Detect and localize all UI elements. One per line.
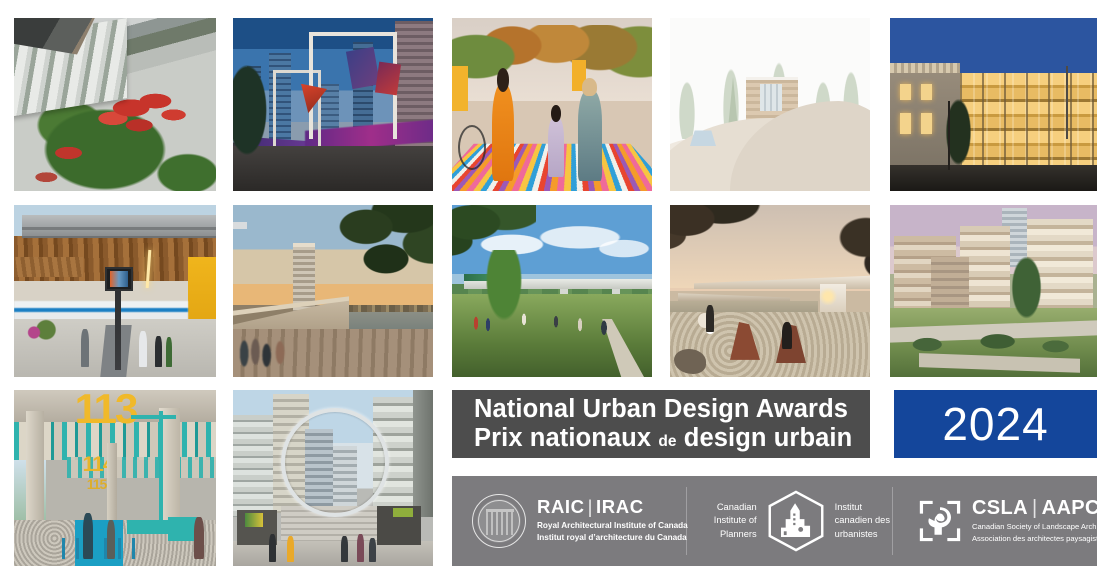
gallery-tile-meadow-park-viaduct [452,205,652,377]
lit-window [921,113,932,134]
awards-title-french-pre: Prix nationaux [474,424,651,452]
logo-csla: CSLA|AAPC Canadian Society of Landscape … [890,476,1112,566]
pedestrian-crowd [233,322,345,367]
cip-name-english: Canadian Institute of Planners [714,501,757,541]
photo-meadow-park [452,205,652,377]
gallery-tile-heritage-glass-addition-dusk [890,18,1097,191]
boulder-shape [674,349,706,373]
lit-window [921,84,932,101]
teal-pipe [159,411,164,527]
person-figure [139,331,147,367]
awards-title-french-post: design urbain [684,424,852,452]
tree-canopy [329,205,433,291]
gallery-tile-waterfront-promenade-sunset [233,205,433,377]
person-sun-hat [578,91,602,181]
photo-painted-street [452,18,652,191]
planting-bed [18,319,58,347]
park-visitors [452,308,652,346]
boat-shape [233,205,255,215]
bridge-deck [678,291,790,301]
gallery-tile-river-beach-bridge [670,205,870,377]
glazing-shape [760,84,782,112]
plaza-paving [233,541,433,566]
person-figure [194,517,204,559]
person-surfer [706,305,714,333]
photo-waterfront-promenade [233,205,433,377]
logo-cip: Canadian Institute of Planners Institut … [688,476,890,566]
awards-title-text: National Urban Design Awards Prix nation… [452,395,852,452]
street-plane [890,165,1097,191]
light-rail-train [14,301,188,320]
csla-acronym-en: CSLA [972,497,1028,519]
person-figure [287,536,294,562]
banner-shape [375,62,401,96]
yellow-pavilion [452,66,468,111]
concrete-column [26,411,44,524]
pier-number-113: 113 [75,390,137,428]
person-figure [83,513,93,559]
flagpole [1066,66,1068,139]
photo-hillside-section [670,18,870,191]
storefront-sign [393,508,413,517]
awards-title-bar: National Urban Design Awards Prix nation… [452,390,870,458]
person-figure [369,538,376,563]
csla-wordmark: CSLA|AAPC Canadian Society of Landscape … [972,498,1112,544]
planting-beds [890,329,1097,360]
cornice-detail [890,63,960,73]
raic-acronyms: RAIC|IRAC [537,498,688,517]
gallery-tile-underpass-teal-public-space: 113 114 115 [14,390,216,566]
raic-name-english: Royal Architectural Institute of Canada [537,521,688,532]
canopy-fascia [22,227,216,230]
gallery-tile-mid-rise-housing-courtyard [890,205,1097,377]
sponsor-logo-bar: RAIC|IRAC Royal Architectural Institute … [452,476,1097,566]
tree-canopy [670,205,762,263]
lamp-post [948,101,950,170]
tree-shape [1010,253,1043,322]
office-tower [233,415,277,517]
lit-window [900,84,911,101]
tree-shape [233,60,269,160]
logo-divider [892,487,893,555]
tree-canopy [452,25,652,105]
concrete-column [107,443,117,520]
guard-railing [62,538,143,559]
raic-name-french: Institut royal d’architecture du Canada [537,533,688,544]
csla-name-french: Association des architectes paysagistes … [972,534,1112,544]
boat-shape [233,222,247,229]
csla-leaf-square-icon [918,499,962,543]
raic-separator: | [585,496,596,517]
gallery-tile-aerial-courtyard-red-umbrellas [14,18,216,191]
cip-hexagon-city-icon [766,490,826,552]
csla-acronyms: CSLA|AAPC [972,498,1112,518]
tree-canopy [452,205,536,274]
poster-canvas: 113 114 115 [0,0,1112,584]
gallery-tile-painted-street-rendering [452,18,652,191]
awards-title-french-de: de [658,433,676,450]
person-figure [81,329,89,367]
logo-divider [686,487,687,555]
awards-title-english: National Urban Design Awards [474,395,852,424]
photo-underpass-space: 113 114 115 [14,390,216,566]
raic-wordmark: RAIC|IRAC Royal Architectural Institute … [537,498,688,543]
csla-name-english: Canadian Society of Landscape Architects [972,522,1112,532]
office-tower [413,390,433,517]
photo-aerial-courtyard [14,18,216,191]
person-figure [357,534,364,562]
lit-window [900,113,911,134]
person-child [548,118,564,177]
photo-mid-rise-housing [890,205,1097,377]
gallery-tile-hillside-section-drawing [670,18,870,191]
csla-acronym-fr: AAPC [1042,497,1100,519]
person-figure [166,337,173,366]
photo-river-beach [670,205,870,377]
teal-bench [127,520,171,534]
teal-pipe [131,415,175,420]
bicycle-shape [458,125,486,170]
gallery-tile-downtown-ring-sculpture [233,390,433,566]
person-seated [782,322,792,350]
person-figure [269,534,276,562]
raic-acronym-fr: IRAC [596,496,644,517]
pier-number-115: 115 [87,476,107,492]
tree-shape [678,77,696,139]
photo-heritage-glass [890,18,1097,191]
logo-raic: RAIC|IRAC Royal Architectural Institute … [452,476,688,566]
facade-mullions [960,73,1097,166]
gallery-tile-dusk-plaza-white-frames [233,18,433,191]
year-label: 2024 [942,397,1048,451]
photo-transit-station [14,205,216,377]
photo-ring-sculpture [233,390,433,566]
boat-shape [233,215,249,222]
person-figure [107,520,115,559]
person-figure [341,536,348,562]
raic-acronym-en: RAIC [537,496,585,517]
wood-soffit [14,257,83,278]
ring-sculpture [281,408,389,517]
cip-name-french: Institut canadien des urbanistes [835,501,890,541]
person-orange-dress [492,84,514,181]
gallery-tile-transit-station-wood-soffit [14,205,216,377]
storefront-sign [245,513,263,527]
raic-seal-icon [472,494,526,548]
tree-canopy [818,205,870,301]
awards-title-french: Prix nationaux de design urbain [474,424,852,453]
year-badge: 2024 [894,390,1097,458]
csla-separator: | [1028,497,1042,519]
information-screen [105,267,133,291]
photo-dusk-plaza [233,18,433,191]
person-figure [155,336,162,367]
